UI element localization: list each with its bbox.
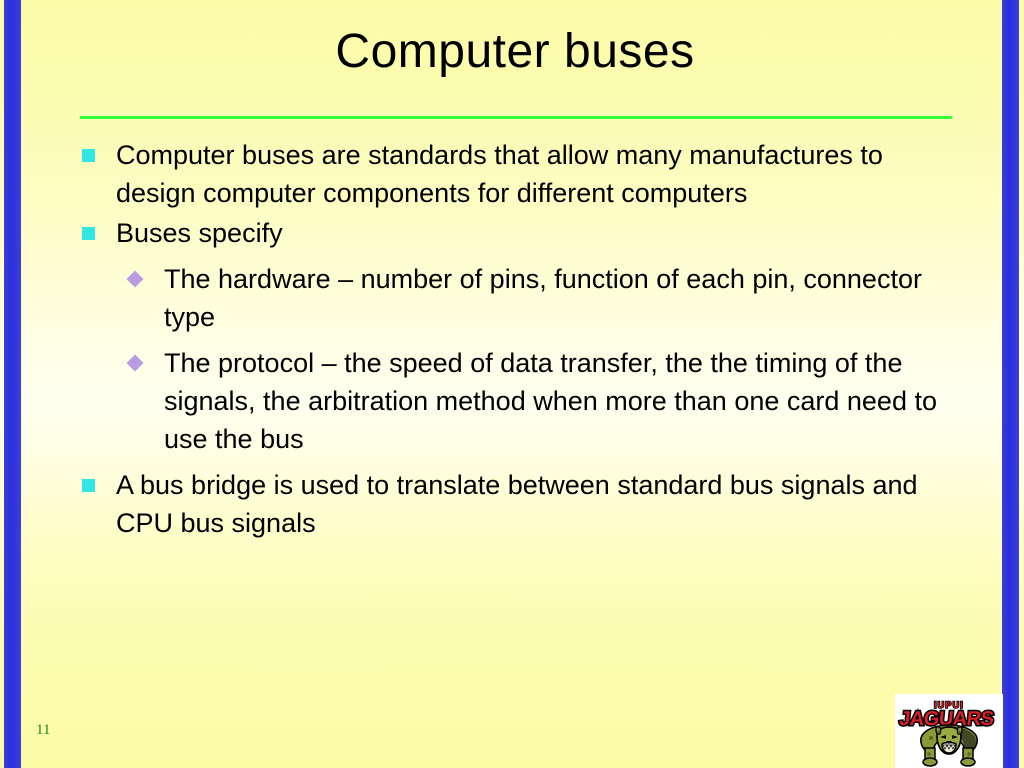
slide-body: Computer buses are standards that allow … bbox=[74, 136, 954, 544]
bullet-item-level1: A bus bridge is used to translate betwee… bbox=[74, 466, 954, 542]
diamond-bullet-icon bbox=[127, 355, 144, 372]
title-divider-line bbox=[80, 116, 952, 119]
bullet-text: The protocol – the speed of data transfe… bbox=[164, 348, 937, 454]
iupui-jaguars-logo: IUPUI JAGUARS bbox=[895, 694, 1003, 768]
right-edge-decoration-bar bbox=[1002, 0, 1019, 768]
bullet-item-level2: The hardware – number of pins, function … bbox=[74, 260, 954, 336]
slide-number: 11 bbox=[36, 722, 50, 739]
square-bullet-icon bbox=[82, 479, 95, 492]
bullet-text: Buses specify bbox=[116, 218, 283, 248]
bullet-text: Computer buses are standards that allow … bbox=[116, 140, 883, 208]
presentation-slide: Computer buses Computer buses are standa… bbox=[0, 0, 1024, 768]
bullet-item-level1: Computer buses are standards that allow … bbox=[74, 136, 954, 212]
jaguars-mascot-icon: IUPUI JAGUARS bbox=[895, 694, 1003, 768]
bullet-item-level1: Buses specify bbox=[74, 214, 954, 252]
bullet-text: A bus bridge is used to translate betwee… bbox=[116, 470, 918, 538]
left-edge-decoration-bar bbox=[4, 0, 21, 768]
square-bullet-icon bbox=[82, 149, 95, 162]
diamond-bullet-icon bbox=[127, 271, 144, 288]
bullet-text: The hardware – number of pins, function … bbox=[164, 264, 922, 332]
slide-title: Computer buses bbox=[80, 26, 950, 79]
square-bullet-icon bbox=[82, 227, 95, 240]
bullet-item-level2: The protocol – the speed of data transfe… bbox=[74, 344, 954, 458]
